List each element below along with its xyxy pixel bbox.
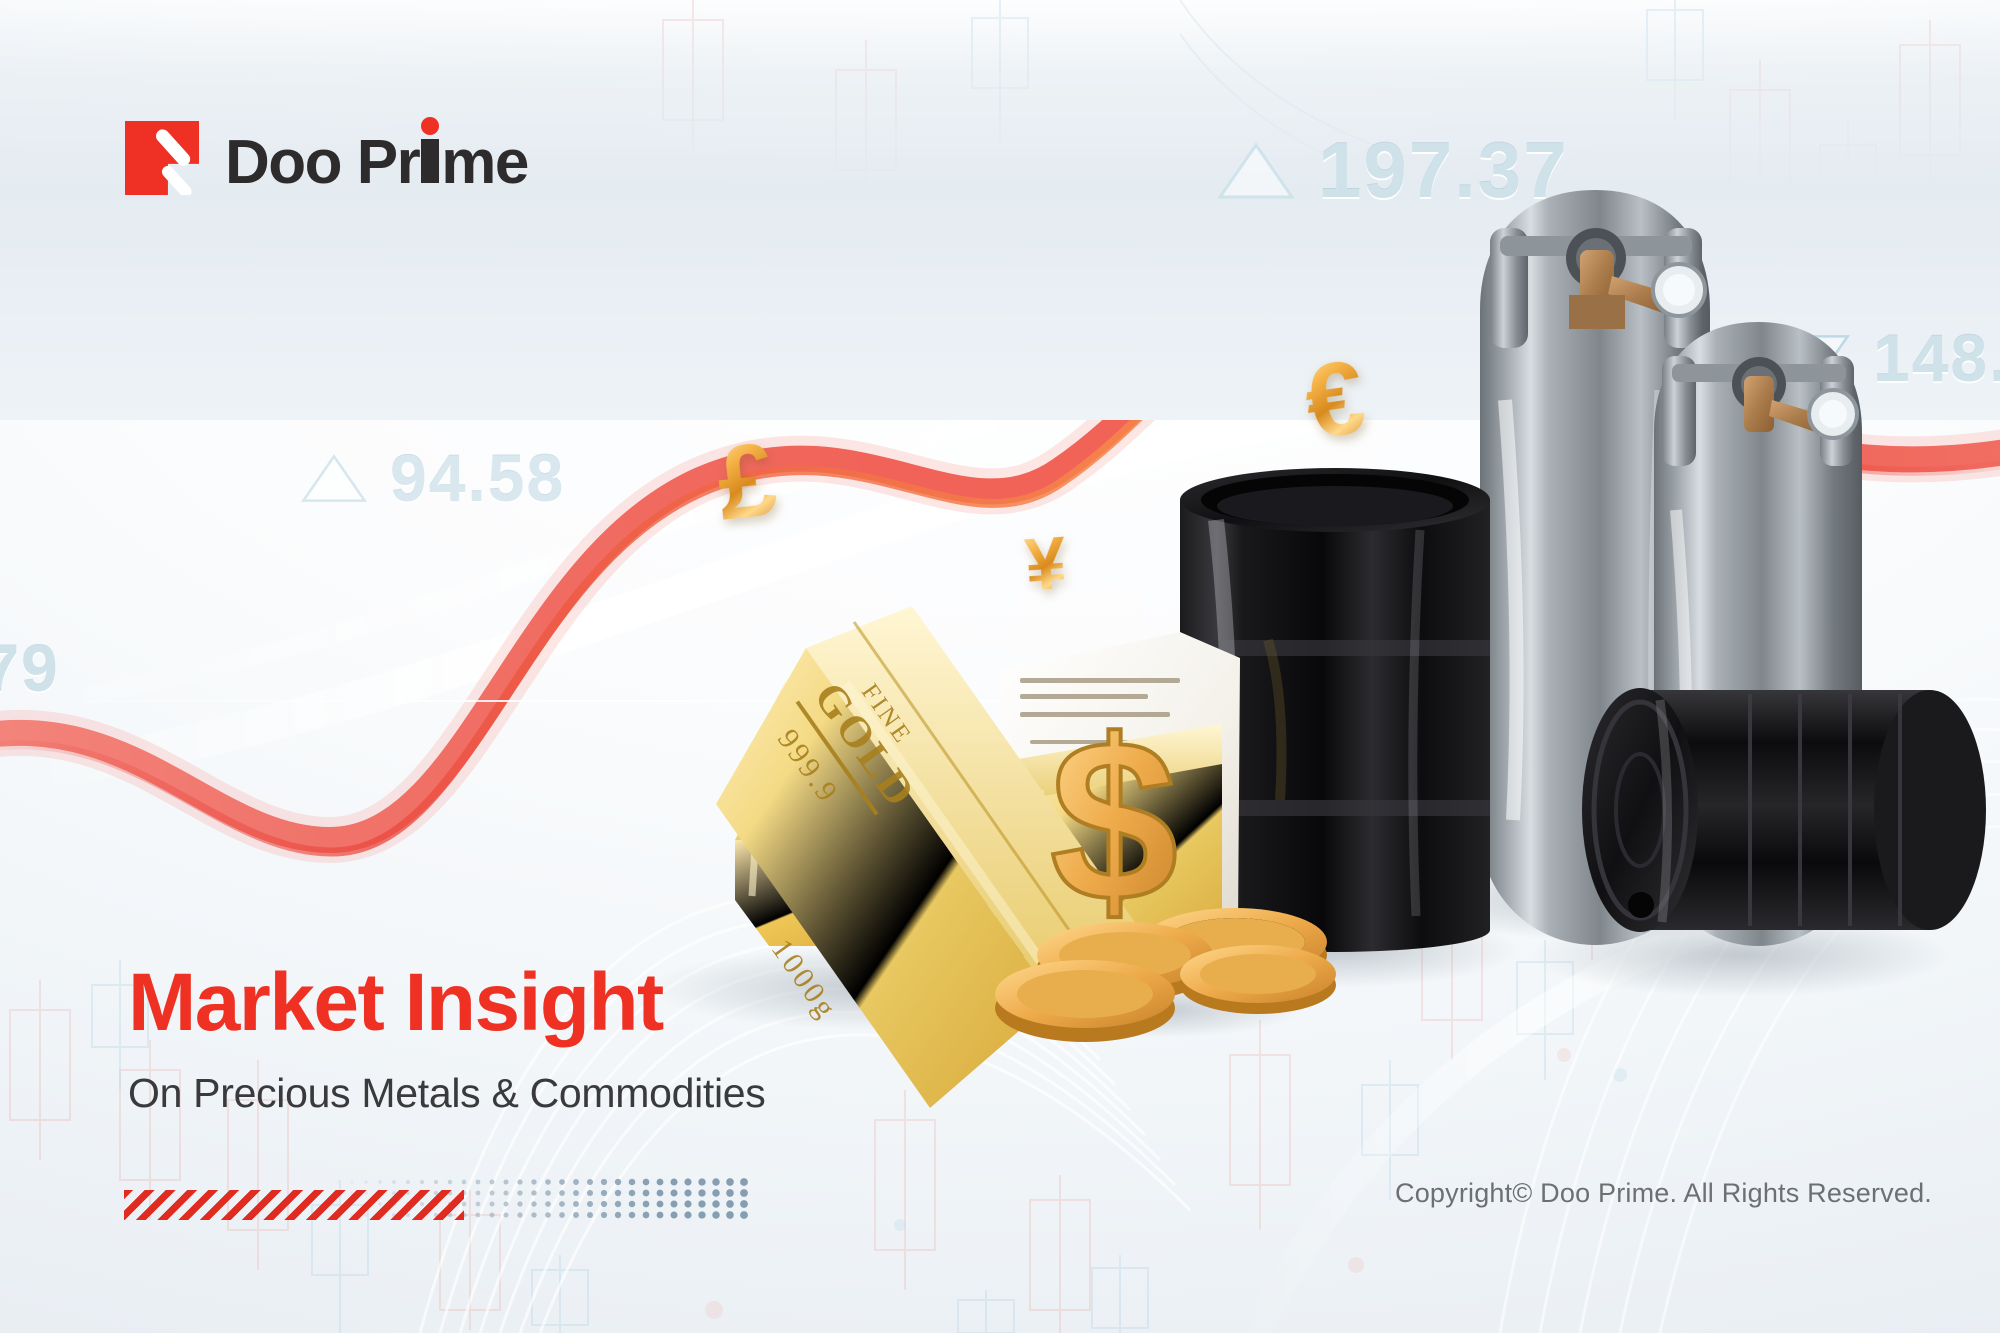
dot-grid-dot (643, 1190, 650, 1197)
dot-grid-dot (476, 1202, 481, 1207)
dot-grid-dot (406, 1180, 410, 1184)
dot-grid-dot (503, 1212, 508, 1217)
dot-grid-dot (698, 1211, 705, 1218)
copyright-text: Copyright© Doo Prime. All Rights Reserve… (1395, 1178, 1932, 1209)
dot-grid-dot (684, 1200, 691, 1207)
dot-grid-dot (712, 1189, 719, 1196)
wordmark-part-2: me (441, 127, 528, 198)
dot-grid-dot (587, 1190, 593, 1196)
doo-prime-logo-mark (125, 121, 199, 195)
dot-grid-dot (517, 1190, 522, 1195)
dot-grid-dot (615, 1179, 621, 1185)
product-composition: FINE GOLD 999.9 1000g $ (0, 0, 2000, 1333)
dot-grid-dot (531, 1190, 536, 1195)
dot-grid-dot (503, 1190, 508, 1195)
dot-grid-dot (657, 1212, 664, 1219)
dot-grid-dot (517, 1179, 522, 1184)
dot-grid-dot (490, 1213, 495, 1218)
dot-grid-dot (629, 1212, 636, 1219)
dot-grid-dot (559, 1201, 565, 1207)
dot-grid-dot (601, 1201, 607, 1207)
dot-grid-dot (684, 1189, 691, 1196)
dot-grid-dot (670, 1178, 677, 1185)
dot-grid-dot (643, 1179, 650, 1186)
dot-grid-dot (629, 1179, 636, 1186)
dot-grid-dot (740, 1178, 748, 1186)
dot-grid-dot (503, 1201, 508, 1206)
dot-grid-dot (601, 1179, 607, 1185)
dot-grid-dot (559, 1179, 565, 1185)
dot-grid-dot (587, 1179, 593, 1185)
dot-grid-dot (350, 1180, 353, 1183)
dot-grid-dot (490, 1202, 495, 1207)
dot-grid-dot (698, 1200, 705, 1207)
dot-grid-dot (490, 1180, 495, 1185)
dot-grid-dot (545, 1201, 551, 1207)
yen-symbol: ¥ (1022, 526, 1068, 603)
dot-grid-dot (726, 1211, 734, 1219)
dot-grid-dot (657, 1201, 664, 1208)
dollar-glyph: $ (1050, 692, 1178, 949)
dot-grid-dot (503, 1179, 508, 1184)
dot-grid-dot (740, 1189, 748, 1197)
dot-grid-dot (462, 1180, 467, 1185)
wordmark-i-stem (419, 117, 441, 183)
dot-grid-dot (698, 1189, 705, 1196)
market-insight-banner: 197.37 94.58 148.48 .79 (0, 0, 2000, 1333)
wordmark-part-1: Doo Pr (225, 127, 419, 198)
dot-grid-dot (517, 1201, 522, 1206)
dot-grid-dot (545, 1179, 551, 1185)
dot-grid-dot (643, 1212, 650, 1219)
dot-grid-dot (545, 1212, 551, 1218)
dot-grid-dot (657, 1190, 664, 1197)
dot-grid-dot (670, 1189, 677, 1196)
coin (995, 960, 1175, 1042)
dot-grid-dot (643, 1201, 650, 1208)
dot-grid-dot (712, 1200, 719, 1207)
dot-grid-dot (559, 1212, 565, 1218)
dot-grid-dot (615, 1201, 621, 1207)
dot-grid-dot (434, 1180, 438, 1184)
page-title: Market Insight (128, 962, 766, 1044)
page-subtitle: On Precious Metals & Commodities (128, 1070, 766, 1117)
dot-grid-dot (531, 1201, 536, 1206)
dot-grid-dot (740, 1200, 748, 1208)
dot-grid-dot (615, 1212, 621, 1218)
dot-grid-dot (740, 1211, 748, 1219)
striped-bar (124, 1190, 464, 1220)
dot-grid-dot (378, 1180, 382, 1184)
pound-symbol: £ (713, 427, 781, 536)
dot-grid-dot (517, 1212, 522, 1217)
doo-prime-wordmark: Doo Pr me (225, 117, 528, 198)
dollar-sign-gold: $ (1050, 692, 1178, 949)
dot-grid-dot (698, 1178, 705, 1185)
dot-grid-dot (531, 1179, 536, 1184)
dot-grid-dot (573, 1190, 579, 1196)
dot-grid-dot (712, 1211, 719, 1218)
dot-grid-dot (476, 1191, 481, 1196)
dot-grid-dot (629, 1190, 636, 1197)
dot-grid-dot (573, 1212, 579, 1218)
dot-grid-dot (726, 1200, 734, 1208)
dot-grid-dot (629, 1201, 636, 1208)
dot-grid-dot (573, 1179, 579, 1185)
dot-grid-dot (726, 1189, 734, 1197)
dot-grid-dot (684, 1178, 691, 1185)
dot-grid-dot (490, 1191, 495, 1196)
dot-grid-dot (726, 1178, 734, 1186)
dot-grid-dot (657, 1179, 664, 1186)
dot-grid-dot (448, 1180, 453, 1185)
dot-grid-dot (601, 1190, 607, 1196)
dot-grid-dot (587, 1201, 593, 1207)
dot-grid-dot (615, 1190, 621, 1196)
dot-grid-dot (601, 1212, 607, 1218)
dot-grid-dot (420, 1180, 424, 1184)
dot-grid-dot (559, 1190, 565, 1196)
decorative-rule (124, 1176, 764, 1222)
dot-grid-dot (392, 1180, 396, 1184)
dot-grid-dot (336, 1180, 339, 1183)
headline-block: Market Insight On Precious Metals & Comm… (128, 962, 766, 1117)
dot-grid-dot (476, 1213, 481, 1218)
dot-grid-dot (364, 1180, 368, 1184)
dot-grid-dot (573, 1201, 579, 1207)
dot-grid-dot (476, 1180, 481, 1185)
dot-grid-dot (545, 1190, 551, 1196)
dot-grid-dot (587, 1212, 593, 1218)
dot-grid-dot (712, 1178, 719, 1185)
dot-grid-dot (684, 1211, 691, 1218)
dot-grid-dot (670, 1211, 677, 1218)
oil-barrel-side (1582, 688, 1986, 932)
doo-prime-logo[interactable]: Doo Pr me (125, 117, 528, 198)
dot-grid-dot (670, 1200, 677, 1207)
dot-grid-dot (531, 1212, 536, 1217)
coin (1180, 945, 1336, 1014)
